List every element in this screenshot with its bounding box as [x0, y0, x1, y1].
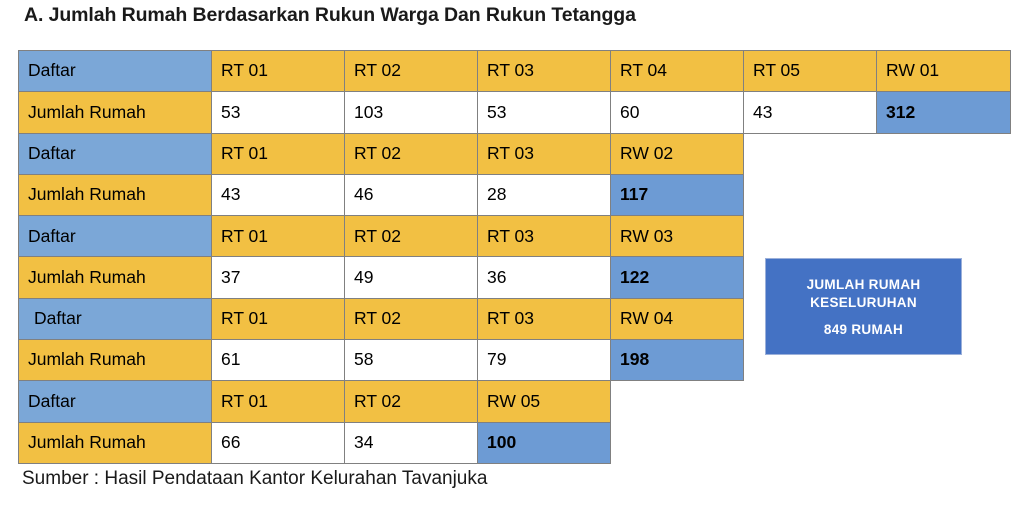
- value-cell: 49: [344, 256, 478, 298]
- rw-block-5: Daftar RT 01 RT 02 RW 05 Jumlah Rumah 66…: [18, 380, 1015, 463]
- value-cell: 103: [344, 91, 478, 133]
- rw-block-2: Daftar RT 01 RT 02 RT 03 RW 02 Jumlah Ru…: [18, 133, 1015, 216]
- column-header-rt: RT 02: [344, 215, 478, 257]
- row-label-daftar: Daftar: [18, 50, 212, 92]
- housing-table: Daftar RT 01 RT 02 RT 03 RT 04 RT 05 RW …: [18, 50, 1015, 463]
- column-header-rt: RT 01: [211, 133, 345, 175]
- value-cell: 53: [211, 91, 345, 133]
- row-label-daftar: Daftar: [18, 133, 212, 175]
- value-cell: 28: [477, 174, 611, 216]
- source-note: Sumber : Hasil Pendataan Kantor Keluraha…: [22, 468, 487, 490]
- value-cell: 66: [211, 422, 345, 464]
- table-row-values-2: Jumlah Rumah 43 46 28 117: [18, 174, 1015, 215]
- row-label-daftar: Daftar: [18, 380, 212, 422]
- grand-total-title-line1: JUMLAH RUMAH: [807, 276, 921, 294]
- rw-total-cell: 100: [477, 422, 611, 464]
- column-header-rt: RT 04: [610, 50, 744, 92]
- grand-total-title-line2: KESELURUHAN: [810, 294, 917, 312]
- value-cell: 53: [477, 91, 611, 133]
- row-label-daftar: Daftar: [18, 298, 212, 340]
- value-cell: 36: [477, 256, 611, 298]
- column-header-rt: RT 02: [344, 380, 478, 422]
- column-header-rw-total: RW 05: [477, 380, 611, 422]
- rw-total-cell: 117: [610, 174, 744, 216]
- row-label-jumlah-rumah: Jumlah Rumah: [18, 339, 212, 381]
- column-header-rt: RT 03: [477, 298, 611, 340]
- column-header-rt: RT 02: [344, 133, 478, 175]
- column-header-rt: RT 01: [211, 215, 345, 257]
- grand-total-box: JUMLAH RUMAH KESELURUHAN 849 RUMAH: [765, 258, 962, 355]
- grand-total-value: 849 RUMAH: [824, 322, 903, 337]
- table-row-header-1: Daftar RT 01 RT 02 RT 03 RT 04 RT 05 RW …: [18, 50, 1015, 91]
- value-cell: 34: [344, 422, 478, 464]
- column-header-rt: RT 03: [477, 133, 611, 175]
- value-cell: 43: [211, 174, 345, 216]
- table-row-values-5: Jumlah Rumah 66 34 100: [18, 422, 1015, 463]
- column-header-rt: RT 05: [743, 50, 877, 92]
- table-row-header-3: Daftar RT 01 RT 02 RT 03 RW 03: [18, 215, 1015, 256]
- rw-total-cell: 122: [610, 256, 744, 298]
- row-label-daftar: Daftar: [18, 215, 212, 257]
- column-header-rt: RT 01: [211, 298, 345, 340]
- value-cell: 37: [211, 256, 345, 298]
- column-header-rw-total: RW 04: [610, 298, 744, 340]
- column-header-rt: RT 01: [211, 50, 345, 92]
- table-row-header-5: Daftar RT 01 RT 02 RW 05: [18, 380, 1015, 421]
- table-row-values-1: Jumlah Rumah 53 103 53 60 43 312: [18, 91, 1015, 132]
- row-label-jumlah-rumah: Jumlah Rumah: [18, 256, 212, 298]
- rw-total-cell: 312: [876, 91, 1011, 133]
- column-header-rw-total: RW 02: [610, 133, 744, 175]
- value-cell: 43: [743, 91, 877, 133]
- value-cell: 60: [610, 91, 744, 133]
- column-header-rw-total: RW 03: [610, 215, 744, 257]
- column-header-rw-total: RW 01: [876, 50, 1011, 92]
- value-cell: 46: [344, 174, 478, 216]
- column-header-rt: RT 02: [344, 50, 478, 92]
- column-header-rt: RT 03: [477, 50, 611, 92]
- row-label-jumlah-rumah: Jumlah Rumah: [18, 422, 212, 464]
- row-label-jumlah-rumah: Jumlah Rumah: [18, 174, 212, 216]
- value-cell: 79: [477, 339, 611, 381]
- column-header-rt: RT 02: [344, 298, 478, 340]
- value-cell: 58: [344, 339, 478, 381]
- row-label-jumlah-rumah: Jumlah Rumah: [18, 91, 212, 133]
- table-row-header-2: Daftar RT 01 RT 02 RT 03 RW 02: [18, 133, 1015, 174]
- column-header-rt: RT 01: [211, 380, 345, 422]
- page-title: A. Jumlah Rumah Berdasarkan Rukun Warga …: [24, 4, 636, 27]
- value-cell: 61: [211, 339, 345, 381]
- column-header-rt: RT 03: [477, 215, 611, 257]
- rw-total-cell: 198: [610, 339, 744, 381]
- rw-block-1: Daftar RT 01 RT 02 RT 03 RT 04 RT 05 RW …: [18, 50, 1015, 133]
